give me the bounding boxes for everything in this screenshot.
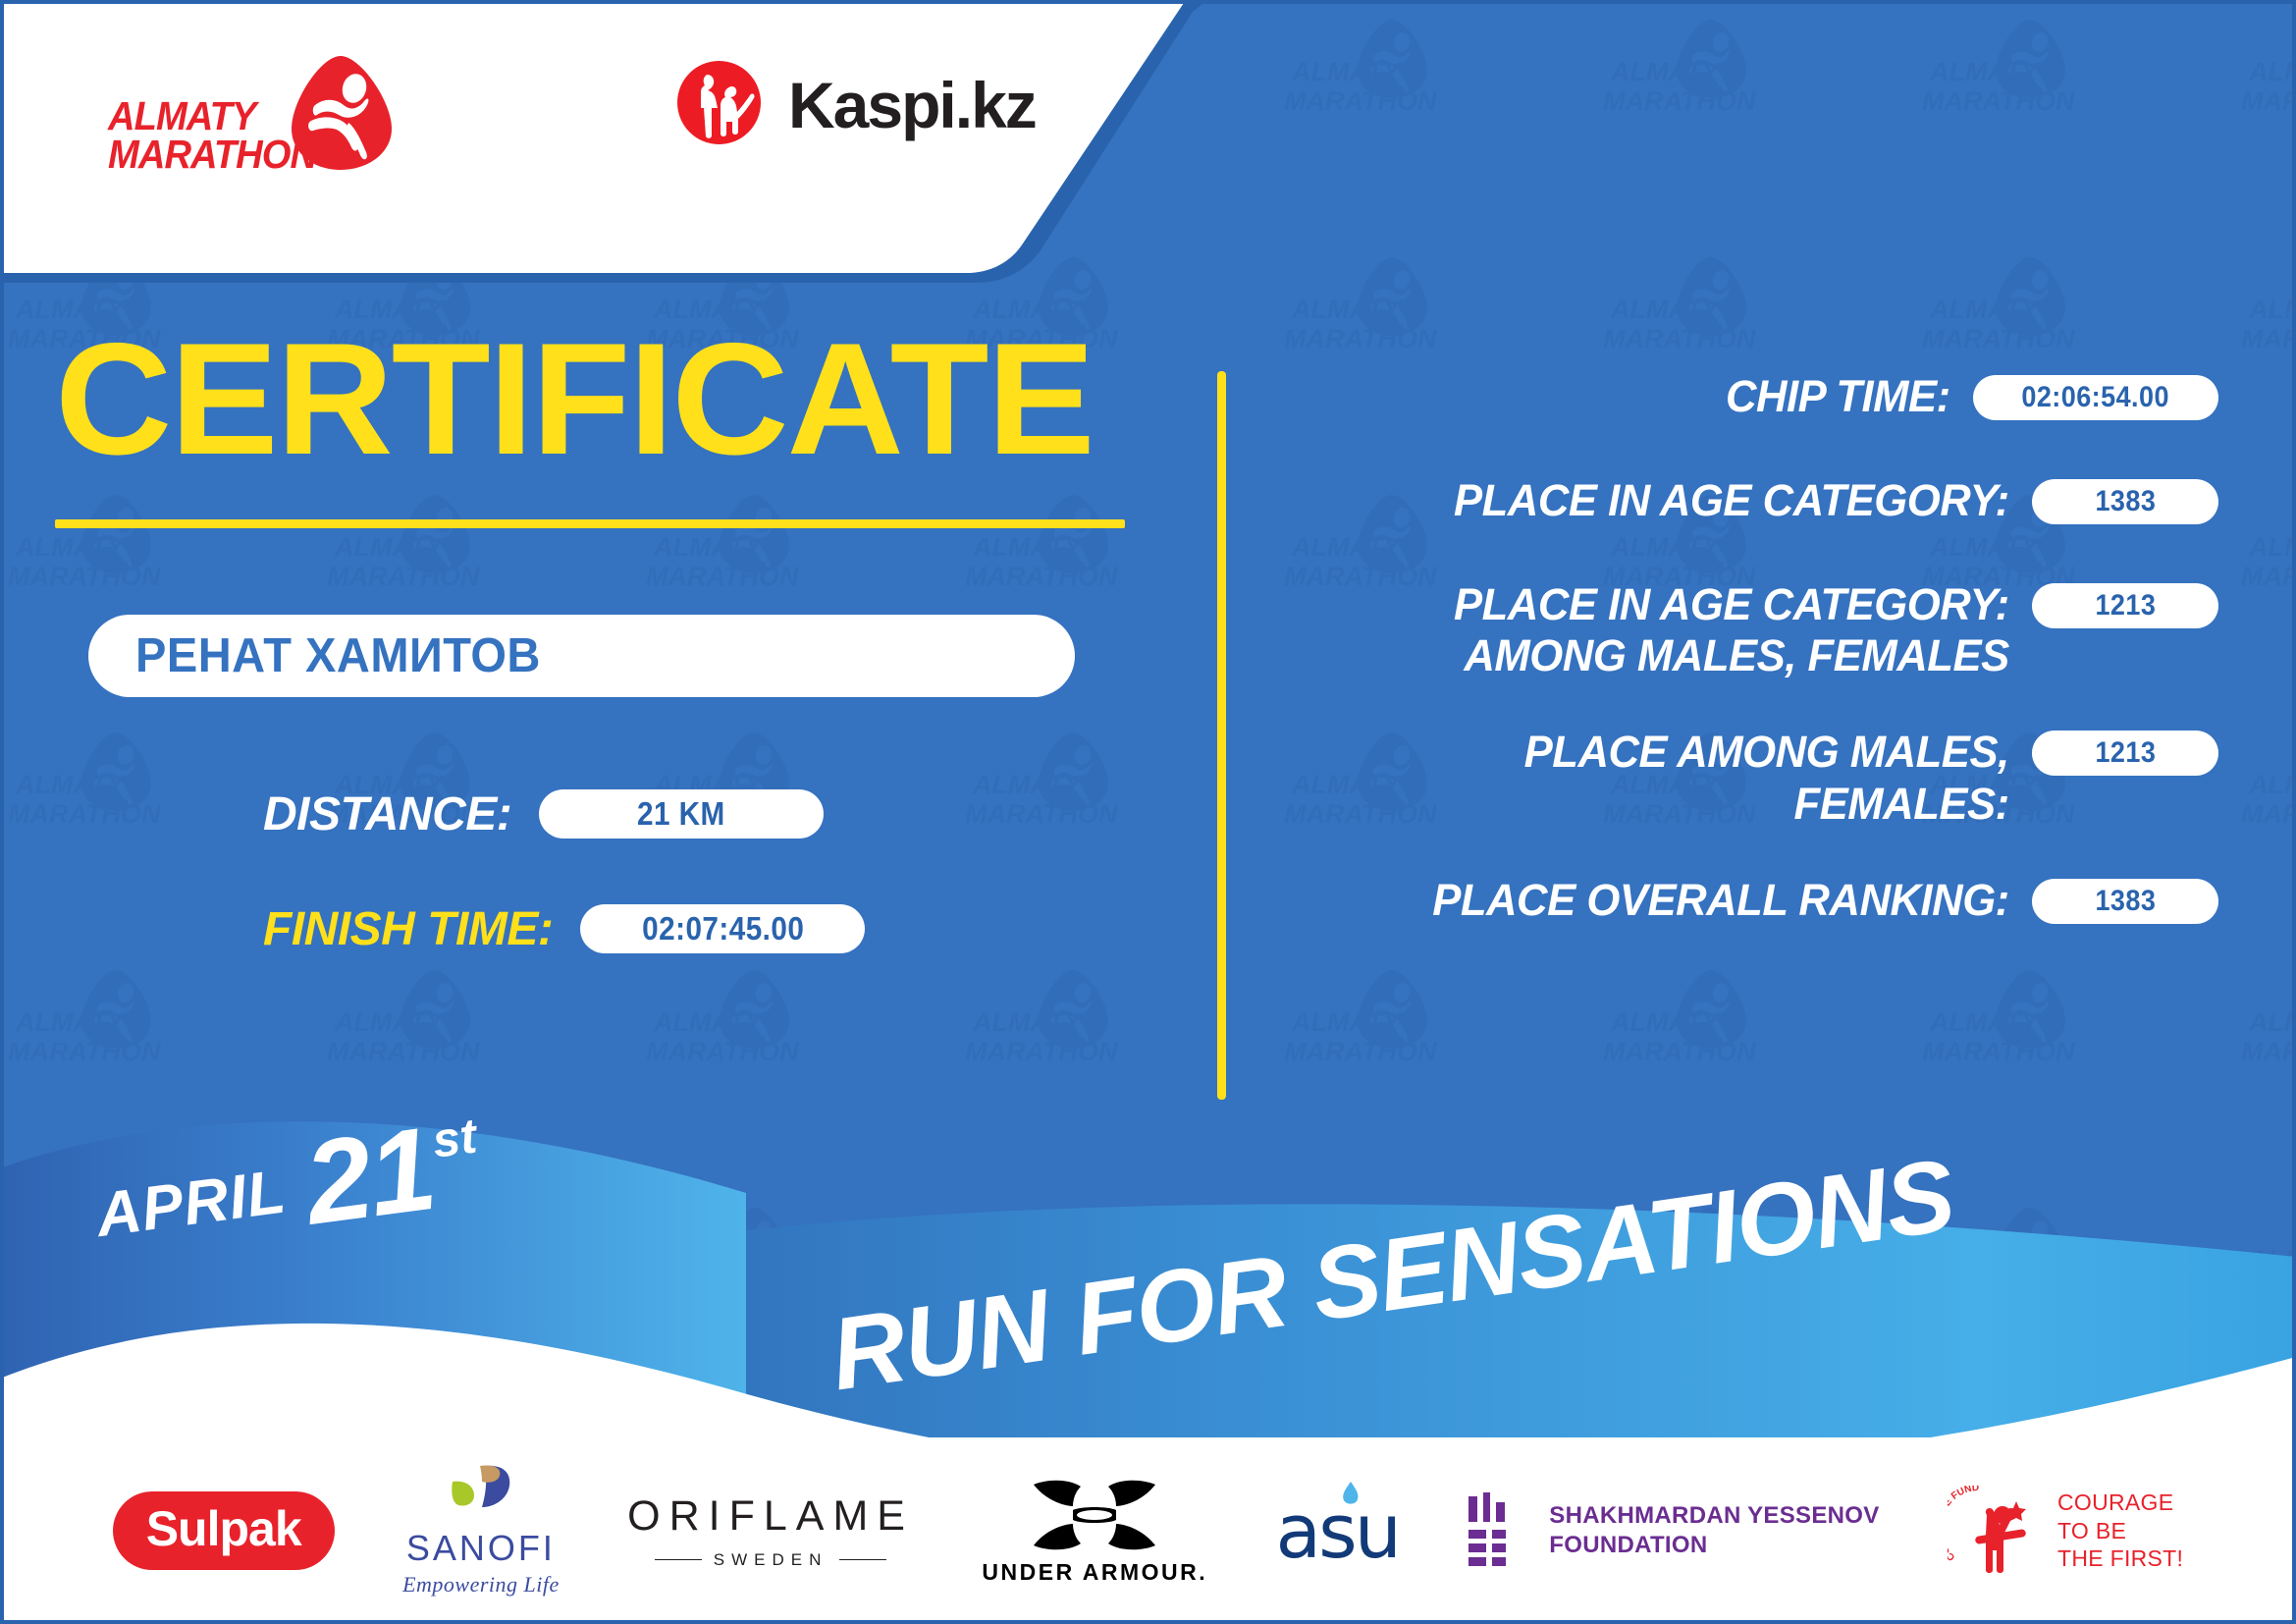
sponsor-asu: asu [1276,1488,1399,1575]
yessenov-line-1: SHAKHMARDAN YESSENOV [1549,1501,1879,1531]
kaspi-family-circle-icon [677,61,761,149]
place-in-age-category-label: PLACE IN AGE CATEGORY: [1299,475,2032,526]
finish-time-label: FINISH TIME: [263,902,553,956]
sanofi-tagline: Empowering Life [402,1572,560,1597]
sponsor-under-armour: UNDER ARMOUR. [982,1477,1207,1586]
place-overall-ranking-label: PLACE OVERALL RANKING: [1299,875,2032,926]
courage-line-3: THE FIRST! [2057,1544,2183,1573]
sponsor-oriflame: ORIFLAME SWEDEN [627,1492,914,1570]
place-in-age-category-value-pill: 1383 [2032,479,2218,524]
distance-value-pill: 21 KM [539,789,824,839]
finish-time-value-pill: 02:07:45.00 [580,904,865,953]
place-in-age-category-value: 1383 [2095,485,2156,518]
logo-line-2: MARATHON [108,132,316,177]
certificate-stats-column: CHIP TIME: 02:06:54.00 PLACE IN AGE CATE… [1276,371,2218,979]
place-among-males-females-label: PLACE AMONG MALES, FEMALES: [1299,727,2032,829]
stat-row: PLACE IN AGE CATEGORY: 1383 [1276,475,2218,534]
courage-line-2: TO BE [2057,1517,2183,1545]
oriflame-wordmark: ORIFLAME [627,1492,914,1541]
place-overall-ranking-value: 1383 [2095,885,2156,918]
kaspi-logo: Kaspi.kz [677,61,1036,149]
courage-line-1: COURAGE [2057,1489,2183,1517]
place-in-age-category-among-label: PLACE IN AGE CATEGORY: AMONG MALES, FEMA… [1299,579,2032,681]
oriflame-rule-left [655,1559,702,1561]
distance-label: DISTANCE: [263,787,511,841]
almaty-marathon-wordmark: ALMATY MARATHON [108,97,316,173]
place-in-age-category-among-value-pill: 1213 [2032,583,2218,628]
vertical-divider [1217,371,1226,1100]
oriflame-sweden-line: SWEDEN [627,1550,914,1570]
certificate-root: APRIL 21 st RUN FOR SENSATIONS ALMATY MA… [0,0,2296,1624]
sponsor-sulpak: Sulpak [113,1491,335,1570]
finish-time-row: FINISH TIME: 02:07:45.00 [263,902,1158,956]
oriflame-sweden-label: SWEDEN [714,1550,828,1570]
courage-wordmark: COURAGE TO BE THE FIRST! [2057,1489,2183,1573]
almaty-marathon-logo: ALMATY MARATHON [108,54,393,187]
distance-row: DISTANCE: 21 KM [263,787,1158,841]
kaspi-wordmark: Kaspi.kz [788,68,1036,142]
oriflame-rule-right [839,1559,886,1561]
stat-row: CHIP TIME: 02:06:54.00 [1276,371,2218,430]
page-title: CERTIFICATE [55,324,1180,475]
sponsor-footer: Sulpak SANOFI Empowering Life ORIFLAME S… [0,1437,2296,1624]
certificate-left-column: CERTIFICATE РЕНАТ ХАМИТОВ DISTANCE: 21 K… [0,324,1158,956]
courage-figure-icon: CORPORATE FUND [1948,1486,2046,1576]
place-in-age-category-among-value: 1213 [2095,589,2156,623]
distance-value: 21 KM [637,795,725,833]
svg-text:CORPORATE FUND: CORPORATE FUND [1948,1486,1980,1562]
chip-time-value: 02:06:54.00 [2022,381,2170,414]
stat-row: PLACE OVERALL RANKING: 1383 [1276,875,2218,934]
under-armour-wordmark: UNDER ARMOUR. [982,1559,1207,1586]
place-among-males-females-value: 1213 [2095,736,2156,770]
asu-wordmark: asu [1276,1488,1399,1575]
stat-row: PLACE IN AGE CATEGORY: AMONG MALES, FEMA… [1276,579,2218,681]
sponsor-yessenov-foundation: SHAKHMARDAN YESSENOV FOUNDATION [1467,1492,1879,1569]
sanofi-icon [437,1464,525,1525]
sulpak-logo: Sulpak [113,1491,335,1570]
participant-name: РЕНАТ ХАМИТОВ [135,628,541,683]
courage-arc-text: CORPORATE FUND [1948,1486,1980,1562]
stat-row: PLACE AMONG MALES, FEMALES: 1213 [1276,727,2218,829]
asu-droplet-icon [1339,1482,1361,1507]
yessenov-icon [1467,1492,1523,1569]
sponsor-sanofi: SANOFI Empowering Life [402,1464,560,1597]
under-armour-icon [1026,1477,1163,1553]
yessenov-line-2: FOUNDATION [1549,1531,1879,1560]
title-underline [55,519,1125,528]
place-among-males-females-value-pill: 1213 [2032,731,2218,776]
header-content: ALMATY MARATHON Kaspi.kz [0,0,1374,295]
sanofi-wordmark: SANOFI [402,1528,560,1569]
chip-time-label: CHIP TIME: [1297,371,1973,422]
finish-time-value: 02:07:45.00 [642,910,804,947]
participant-name-field: РЕНАТ ХАМИТОВ [88,615,1075,697]
sponsor-courage-to-be-first: CORPORATE FUND COURAGE TO BE THE FIRST! [1948,1486,2183,1576]
place-overall-ranking-value-pill: 1383 [2032,879,2218,924]
chip-time-value-pill: 02:06:54.00 [1973,375,2218,420]
yessenov-wordmark: SHAKHMARDAN YESSENOV FOUNDATION [1549,1501,1879,1560]
